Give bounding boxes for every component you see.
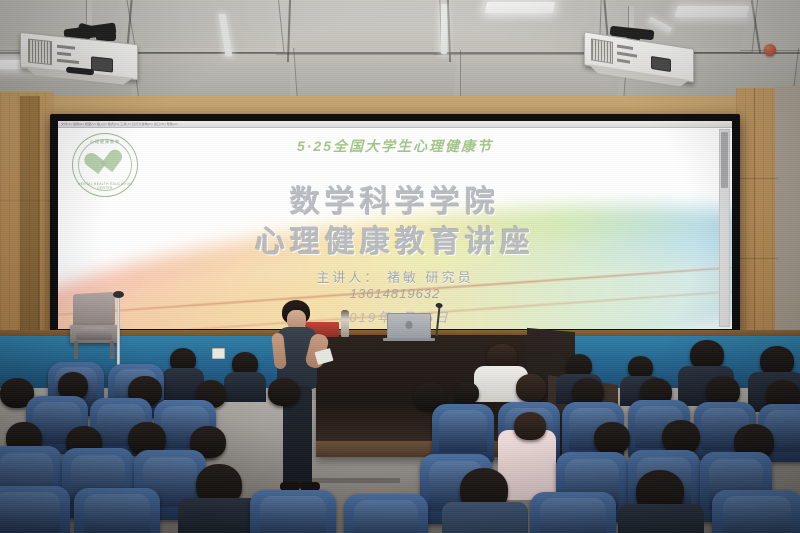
lecture-hall-photo: 文件(F) 编辑(E) 视图(V) 插入(I) 格式(O) 工具(T) 幻灯片放… xyxy=(0,0,800,533)
audience-head xyxy=(514,412,546,440)
ceiling-projector-right xyxy=(588,22,708,84)
audience-body xyxy=(618,504,704,533)
projection-screen-frame: 文件(F) 编辑(E) 视图(V) 插入(I) 格式(O) 工具(T) 幻灯片放… xyxy=(50,114,740,336)
slide-phone-text: 13614819632 xyxy=(58,286,732,301)
audience-seat xyxy=(344,494,428,533)
slide-speaker-text: 主讲人： 褚敏 研究员 xyxy=(58,267,732,286)
audience-body xyxy=(442,502,528,533)
audience-head xyxy=(662,420,700,454)
audience-body xyxy=(224,372,266,402)
audience-seat xyxy=(530,492,616,533)
audience-area xyxy=(0,330,800,533)
ceiling-light xyxy=(485,2,555,13)
apple-logo-icon xyxy=(406,321,413,329)
slide-header-text: 5·25全国大学生心理健康节 xyxy=(58,136,732,156)
audience-head xyxy=(455,382,479,404)
audience-seat xyxy=(250,490,336,533)
ceiling-light xyxy=(441,4,447,54)
slide-title-line2: 心理健康教育讲座 xyxy=(58,217,732,261)
audience-seat xyxy=(74,488,160,533)
fire-alarm-icon xyxy=(764,44,776,56)
wall-panel-left-inner xyxy=(20,96,40,341)
audience-seat xyxy=(712,490,800,533)
slide-title-line1: 数学科学学院 xyxy=(58,177,732,221)
audience-seat xyxy=(0,486,70,533)
projected-slide: 文件(F) 编辑(E) 视图(V) 插入(I) 格式(O) 工具(T) 幻灯片放… xyxy=(58,121,732,329)
ceiling-projector-left xyxy=(18,6,148,78)
audience-head xyxy=(268,378,300,406)
ceiling-light xyxy=(674,6,749,17)
audience-head xyxy=(594,422,630,454)
audience-head xyxy=(516,374,546,402)
